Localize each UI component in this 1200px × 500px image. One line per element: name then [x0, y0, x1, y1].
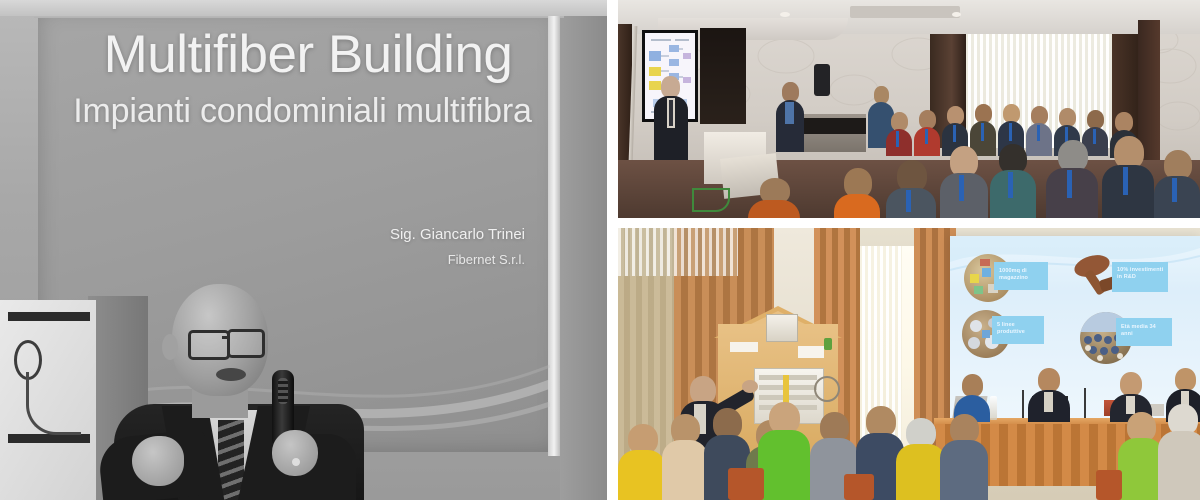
audience-torso	[1046, 168, 1098, 218]
speaker-pointing-hand	[742, 380, 758, 393]
slide-company-name: Fibernet S.r.l.	[250, 252, 525, 267]
flipchart-wire-graphic	[26, 372, 81, 435]
lanyard	[1037, 125, 1040, 141]
lanyard	[981, 123, 984, 141]
slide-label-text-1: 1000mq di magazzino	[999, 268, 1045, 283]
water-bottle	[990, 396, 997, 420]
photo-collage: Multifiber Building Impianti condominial…	[0, 0, 1200, 500]
slide-label-box-1: 1000mq di magazzino	[994, 262, 1048, 290]
microphone-grille	[278, 378, 288, 404]
audience-head	[1115, 112, 1133, 132]
audience-torso	[940, 440, 988, 500]
eyeglasses-left-lens	[188, 330, 230, 360]
demo-sign-left	[730, 342, 758, 352]
speaker-head	[690, 376, 716, 404]
audience-torso	[1102, 165, 1154, 218]
chair-back	[844, 474, 874, 500]
lanyard	[1009, 123, 1012, 141]
presenter-mic-hand	[272, 430, 318, 476]
chair-back	[728, 468, 764, 500]
attendee-head	[782, 82, 799, 102]
dark-curtain-backdrop	[700, 28, 746, 124]
av-equipment	[804, 118, 866, 134]
cable-coil	[814, 376, 840, 402]
panelist-head	[962, 374, 983, 397]
slide-subtitle: Impianti condominiali multifibra	[60, 92, 545, 131]
green-fiber-cable	[692, 188, 730, 212]
audience-torso	[1154, 176, 1200, 218]
wall-speaker	[814, 64, 830, 96]
panelist-head	[1120, 372, 1142, 396]
audience-torso	[662, 440, 708, 500]
audience-torso	[758, 430, 810, 500]
table-microphone	[1022, 390, 1024, 418]
demo-sign-right	[798, 346, 824, 358]
panelist-shirt	[1044, 392, 1053, 412]
table-microphone	[1084, 388, 1086, 418]
slide-label-text-3: 5 linee produttive	[997, 322, 1041, 337]
lanyard	[896, 131, 899, 147]
lanyard	[953, 125, 956, 142]
panelist-head	[1175, 368, 1196, 391]
presenter-figure	[96, 284, 396, 500]
audience-torso	[618, 450, 666, 500]
presenter-mouth	[216, 368, 246, 381]
ceiling-air-vent	[850, 6, 960, 18]
lanyard	[906, 190, 911, 212]
lanyard	[959, 175, 964, 201]
wall-mounted-enclosure	[766, 314, 798, 342]
ceiling-downlight	[780, 12, 790, 17]
eyeglasses-bridge	[222, 336, 230, 339]
chair-back	[1096, 470, 1122, 500]
standing-attendee	[776, 82, 804, 152]
audience-torso	[748, 200, 800, 218]
lanyard	[925, 129, 928, 144]
slide-label-text-2: 10% investimenti in R&D	[1117, 267, 1165, 282]
status-indicator	[824, 338, 832, 350]
presenter-gesturing-hand	[132, 436, 184, 486]
conference-room-audience-photo	[618, 0, 1200, 218]
eyeglasses-right-lens	[227, 329, 265, 358]
speaker-head	[661, 76, 680, 98]
finger-ring	[292, 458, 300, 466]
presenter-ear	[162, 334, 178, 360]
slide-label-box-3: 5 linee produttive	[992, 316, 1044, 344]
speaker-tie	[669, 100, 673, 126]
slide-label-box-4: Età media 34 anni	[1116, 318, 1172, 346]
ceiling-strip	[0, 0, 607, 16]
flipchart-bar-top	[8, 312, 90, 321]
slide-title: Multifiber Building	[78, 28, 538, 82]
attendee-shirt	[785, 102, 794, 124]
hanging-foil-decoration	[618, 228, 738, 276]
side-wall	[560, 0, 607, 500]
lanyard	[1123, 167, 1128, 195]
audience-torso	[990, 170, 1036, 218]
speaker-at-display	[654, 76, 688, 160]
panelist-head	[1038, 368, 1060, 392]
slide-presenter-name: Sig. Giancarlo Trinei	[250, 226, 525, 243]
audience-torso	[834, 194, 880, 218]
audience-torso	[886, 129, 912, 156]
ceiling-downlight	[952, 12, 961, 17]
audience-torso	[896, 444, 946, 500]
slide-label-box-2: 10% investimenti in R&D	[1112, 262, 1168, 292]
seminar-hall-photo: 1000mq di magazzino 10% investimenti in …	[618, 228, 1200, 500]
audience-torso	[886, 188, 936, 218]
audience-torso	[940, 173, 988, 218]
flipchart-bar-bottom	[8, 434, 90, 443]
panelist-2	[1028, 368, 1070, 422]
presenter-closeup-photo: Multifiber Building Impianti condominial…	[0, 0, 607, 500]
lanyard	[1067, 170, 1072, 198]
audience-torso	[1158, 431, 1200, 500]
slide-label-text-4: Età media 34 anni	[1121, 324, 1169, 339]
lanyard	[1172, 178, 1177, 202]
lanyard	[1008, 172, 1013, 198]
